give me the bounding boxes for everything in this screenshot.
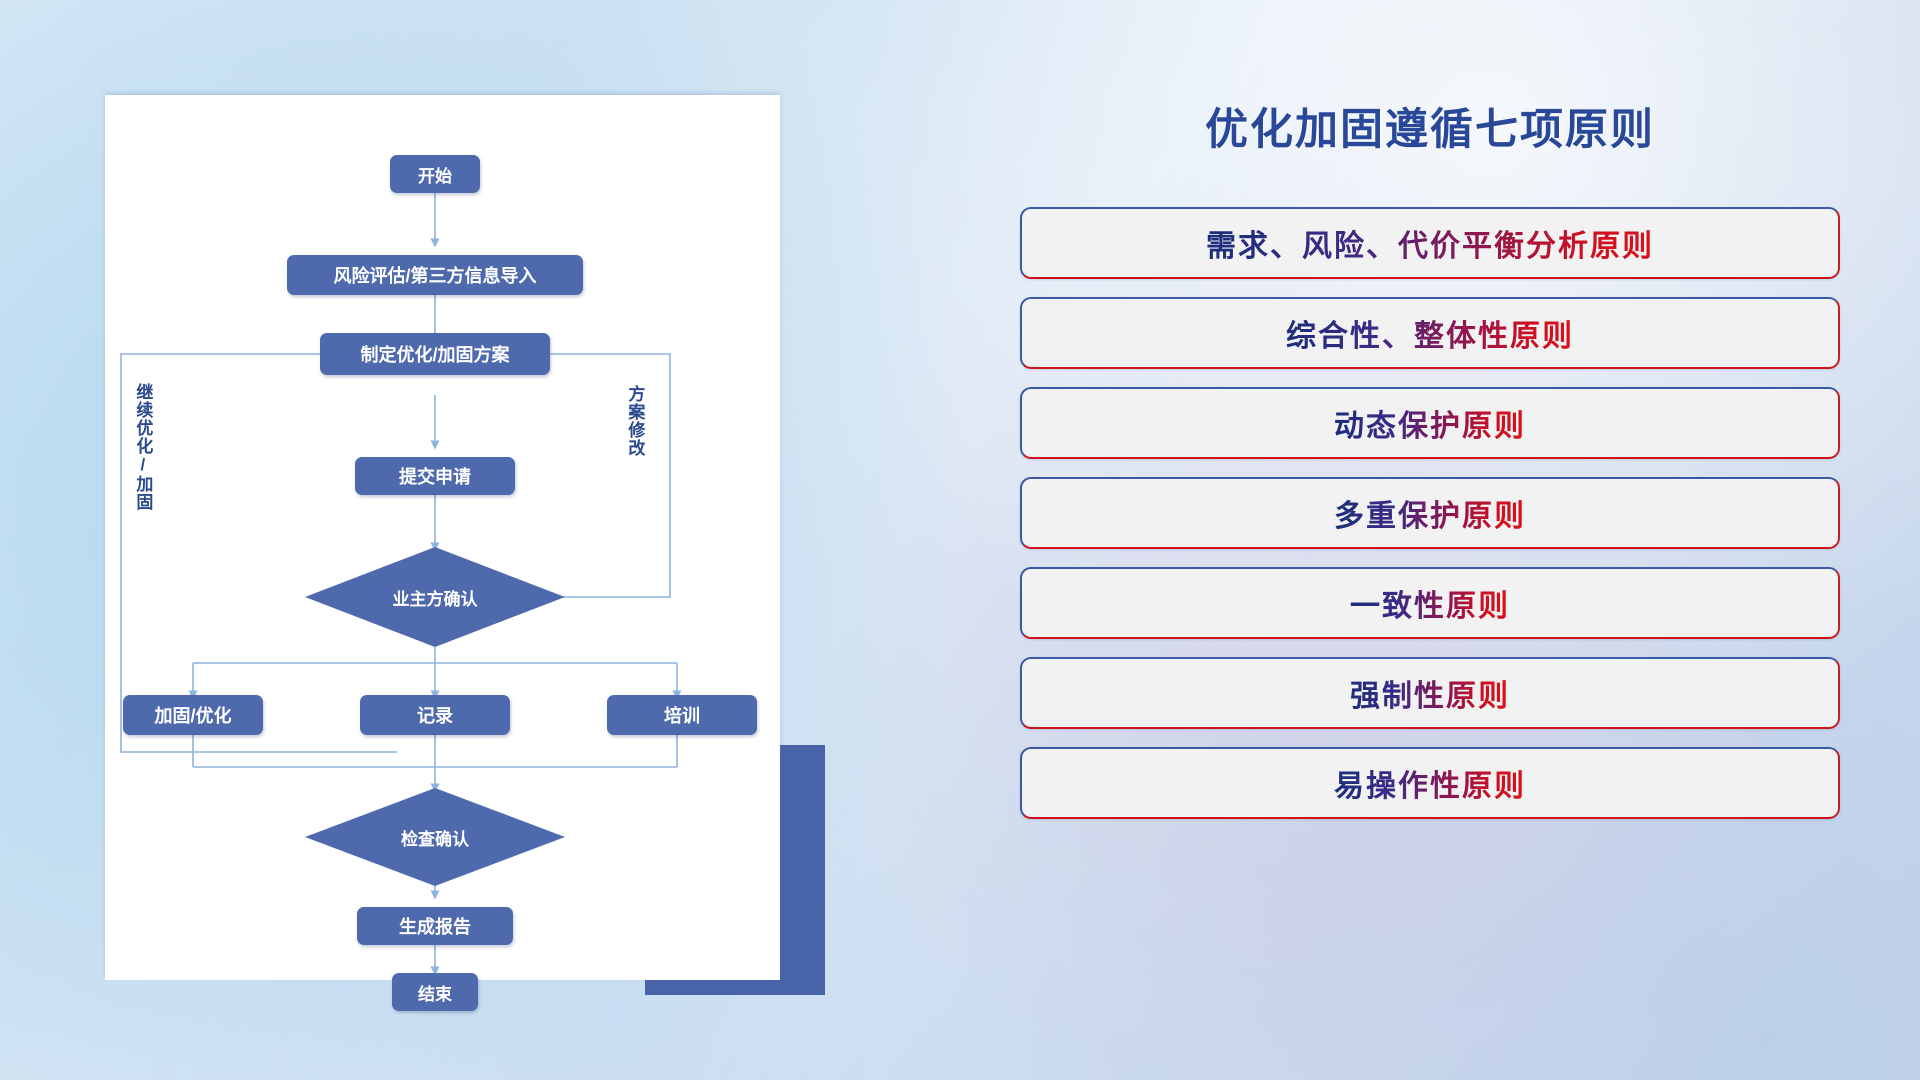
panel-title: 优化加固遵循七项原则 (1020, 95, 1840, 157)
flow-node-reinforce-label: 加固/优化 (154, 702, 231, 728)
flow-node-generate-report[interactable]: 生成报告 (357, 907, 513, 945)
principle-item-1[interactable]: 需求、风险、代价平衡分析原则 (1020, 207, 1840, 279)
flow-edge-label-continue-optimize: 继续优化/加固 (133, 383, 151, 511)
flow-node-check-confirm[interactable]: 检查确认 (305, 788, 565, 886)
principle-item-6-label: 强制性原则 (1350, 671, 1510, 715)
principles-panel: 优化加固遵循七项原则 需求、风险、代价平衡分析原则 综合性、整体性原则 动态保护… (1020, 95, 1840, 837)
flow-node-record[interactable]: 记录 (360, 695, 510, 735)
principle-item-3[interactable]: 动态保护原则 (1020, 387, 1840, 459)
principle-item-7-label: 易操作性原则 (1334, 761, 1526, 805)
flow-edge-label-plan-revision: 方案修改 (625, 385, 643, 457)
principle-item-3-label: 动态保护原则 (1334, 401, 1526, 445)
flow-node-risk-assessment[interactable]: 风险评估/第三方信息导入 (287, 255, 583, 295)
principle-item-5[interactable]: 一致性原则 (1020, 567, 1840, 639)
flow-node-end[interactable]: 结束 (392, 973, 478, 1011)
principle-item-1-label: 需求、风险、代价平衡分析原则 (1206, 221, 1654, 265)
principle-item-6[interactable]: 强制性原则 (1020, 657, 1840, 729)
flow-node-risk-assessment-label: 风险评估/第三方信息导入 (334, 262, 537, 288)
flow-node-training-label: 培训 (664, 702, 700, 728)
flow-node-end-label: 结束 (418, 980, 452, 1005)
flow-node-reinforce[interactable]: 加固/优化 (123, 695, 263, 735)
flow-node-check-confirm-label: 检查确认 (401, 825, 469, 850)
flow-node-plan[interactable]: 制定优化/加固方案 (320, 333, 550, 375)
principle-item-4[interactable]: 多重保护原则 (1020, 477, 1840, 549)
flow-node-record-label: 记录 (417, 702, 453, 728)
flow-node-submit-application[interactable]: 提交申请 (355, 457, 515, 495)
principle-item-4-label: 多重保护原则 (1334, 491, 1526, 535)
flow-node-start-label: 开始 (418, 162, 452, 187)
principle-item-5-label: 一致性原则 (1350, 581, 1510, 625)
flow-node-generate-report-label: 生成报告 (399, 913, 471, 939)
flow-node-training[interactable]: 培训 (607, 695, 757, 735)
flow-node-submit-application-label: 提交申请 (399, 463, 471, 489)
flow-node-owner-confirm[interactable]: 业主方确认 (305, 547, 565, 647)
principle-item-2-label: 综合性、整体性原则 (1286, 311, 1574, 355)
flowchart-card: 开始 风险评估/第三方信息导入 制定优化/加固方案 提交申请 业主方确认 加固/… (105, 95, 780, 980)
flow-node-plan-label: 制定优化/加固方案 (360, 341, 509, 367)
flow-node-owner-confirm-label: 业主方确认 (393, 585, 478, 610)
principle-item-2[interactable]: 综合性、整体性原则 (1020, 297, 1840, 369)
principle-item-7[interactable]: 易操作性原则 (1020, 747, 1840, 819)
flow-node-start[interactable]: 开始 (390, 155, 480, 193)
